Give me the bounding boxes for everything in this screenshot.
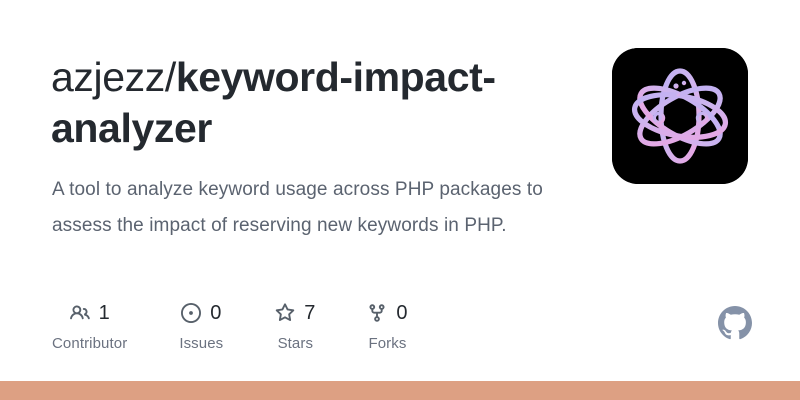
repo-stats: 1 Contributor 0 Issues — [52, 300, 408, 352]
stat-label: Contributor — [52, 335, 127, 352]
repo-owner: azjezz/ — [51, 54, 176, 100]
stat-label: Issues — [179, 335, 223, 352]
stat-value-row: 0 — [181, 300, 221, 326]
stat-value-row: 7 — [275, 300, 315, 326]
stat-forks: 0 Forks — [367, 300, 407, 352]
repo-forked-icon — [367, 303, 387, 323]
stat-value: 1 — [99, 303, 110, 323]
stat-value: 0 — [210, 303, 221, 323]
repository-social-card: azjezz/keyword-impact-analyzer A tool to… — [0, 0, 800, 400]
stat-stars: 7 Stars — [275, 300, 315, 352]
people-icon — [70, 303, 90, 323]
stat-value-row: 0 — [367, 300, 407, 326]
page-title: azjezz/keyword-impact-analyzer — [51, 52, 561, 154]
star-icon — [275, 303, 295, 323]
issue-opened-icon — [181, 303, 201, 323]
stat-label: Forks — [368, 335, 406, 352]
stat-value-row: 1 — [70, 300, 110, 326]
github-mark-icon — [718, 306, 752, 340]
stat-label: Stars — [278, 335, 314, 352]
stat-issues: 0 Issues — [179, 300, 223, 352]
accent-bar — [0, 381, 800, 400]
stat-contributors: 1 Contributor — [52, 300, 127, 352]
stat-value: 7 — [304, 303, 315, 323]
avatar — [612, 48, 748, 184]
stat-value: 0 — [396, 303, 407, 323]
repo-description: A tool to analyze keyword usage across P… — [52, 172, 552, 244]
